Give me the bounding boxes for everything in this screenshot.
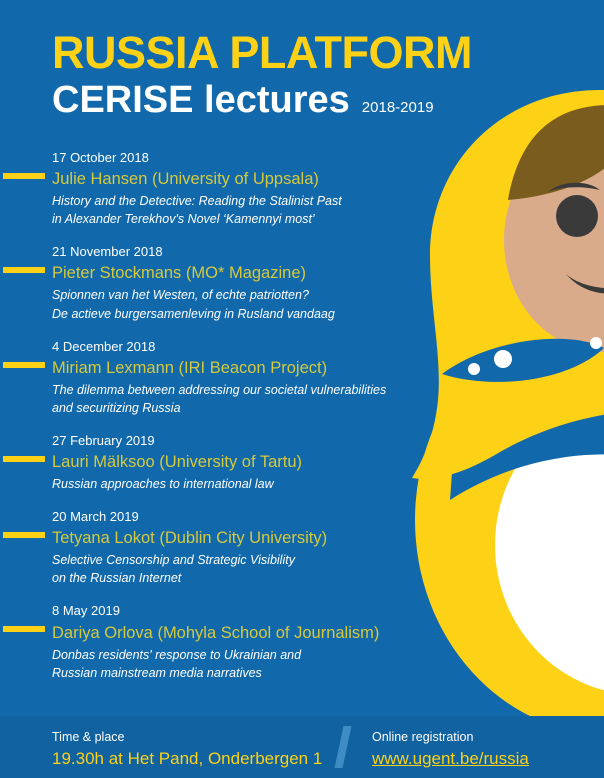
doll-scarf-dot bbox=[494, 350, 512, 368]
list-item: 20 March 2019 Tetyana Lokot (Dublin City… bbox=[0, 507, 420, 587]
list-item: 8 May 2019 Dariya Orlova (Mohyla School … bbox=[0, 601, 420, 681]
doll-eye bbox=[556, 195, 598, 237]
subtitle-row: CERISE lectures 2018-2019 bbox=[52, 81, 472, 119]
registration-label: Online registration bbox=[372, 728, 529, 747]
lecture-date: 17 October 2018 bbox=[52, 148, 420, 168]
lecture-date: 20 March 2019 bbox=[52, 507, 420, 527]
lecture-date: 4 December 2018 bbox=[52, 337, 420, 357]
doll-face bbox=[504, 128, 604, 352]
doll-scarf-drape bbox=[450, 405, 604, 500]
slash-divider bbox=[335, 726, 352, 768]
lecture-description-line: Selective Censorship and Strategic Visib… bbox=[52, 551, 420, 569]
doll-apron bbox=[495, 395, 604, 695]
lecture-description-line: History and the Detective: Reading the S… bbox=[52, 192, 420, 210]
poster-footer: Time & place 19.30h at Het Pand, Onderbe… bbox=[0, 716, 604, 778]
lecture-description-line: Spionnen van het Westen, of echte patrio… bbox=[52, 286, 420, 304]
list-item: 17 October 2018 Julie Hansen (University… bbox=[0, 148, 420, 228]
lecture-description-line: on the Russian Internet bbox=[52, 569, 420, 587]
lecture-description-line: De actieve burgersamenleving in Rusland … bbox=[52, 305, 420, 323]
lecture-description-line: in Alexander Terekhov's Novel ‘Kamennyi … bbox=[52, 210, 420, 228]
lecture-description-line: Donbas residents' response to Ukrainian … bbox=[52, 646, 420, 664]
lecture-date: 21 November 2018 bbox=[52, 242, 420, 262]
academic-year-label: 2018-2019 bbox=[362, 99, 434, 116]
lecture-accent-bar bbox=[3, 626, 45, 632]
doll-headscarf bbox=[412, 90, 604, 479]
poster-header: RUSSIA PLATFORM CERISE lectures 2018-201… bbox=[52, 30, 472, 119]
poster: RUSSIA PLATFORM CERISE lectures 2018-201… bbox=[0, 0, 604, 778]
page-title: RUSSIA PLATFORM bbox=[52, 30, 472, 75]
doll-smile bbox=[566, 274, 604, 294]
lecture-speaker: Dariya Orlova (Mohyla School of Journali… bbox=[52, 622, 420, 646]
list-item: 21 November 2018 Pieter Stockmans (MO* M… bbox=[0, 242, 420, 322]
registration-block: Online registration www.ugent.be/russia bbox=[372, 728, 529, 771]
lecture-description-line: Russian approaches to international law bbox=[52, 475, 420, 493]
page-subtitle: CERISE lectures bbox=[52, 81, 350, 119]
lecture-date: 8 May 2019 bbox=[52, 601, 420, 621]
lecture-speaker: Lauri Mälksoo (University of Tartu) bbox=[52, 451, 420, 475]
registration-url-link[interactable]: www.ugent.be/russia bbox=[372, 747, 529, 771]
lecture-accent-bar bbox=[3, 267, 45, 273]
lecture-accent-bar bbox=[3, 456, 45, 462]
lecture-description-line: Russian mainstream media narratives bbox=[52, 664, 420, 682]
lecture-accent-bar bbox=[3, 532, 45, 538]
lecture-speaker: Miriam Lexmann (IRI Beacon Project) bbox=[52, 357, 420, 381]
doll-scarf-leaf bbox=[442, 339, 604, 382]
time-place-label: Time & place bbox=[52, 728, 322, 747]
lecture-speaker: Julie Hansen (University of Uppsala) bbox=[52, 168, 420, 192]
list-item: 4 December 2018 Miriam Lexmann (IRI Beac… bbox=[0, 337, 420, 417]
doll-hair bbox=[508, 105, 604, 200]
lecture-date: 27 February 2019 bbox=[52, 431, 420, 451]
doll-scarf-dot bbox=[468, 363, 480, 375]
doll-eyebrow bbox=[548, 183, 600, 192]
lecture-description-line: The dilemma between addressing our socie… bbox=[52, 381, 420, 399]
doll-body-shape bbox=[415, 305, 604, 735]
lecture-description-line: and securitizing Russia bbox=[52, 399, 420, 417]
list-item: 27 February 2019 Lauri Mälksoo (Universi… bbox=[0, 431, 420, 493]
time-place-value: 19.30h at Het Pand, Onderbergen 1 bbox=[52, 747, 322, 771]
lecture-list: 17 October 2018 Julie Hansen (University… bbox=[0, 148, 420, 696]
lecture-speaker: Pieter Stockmans (MO* Magazine) bbox=[52, 262, 420, 286]
time-place-block: Time & place 19.30h at Het Pand, Onderbe… bbox=[52, 728, 322, 771]
lecture-accent-bar bbox=[3, 173, 45, 179]
doll-scarf-dot bbox=[590, 337, 602, 349]
lecture-accent-bar bbox=[3, 362, 45, 368]
lecture-speaker: Tetyana Lokot (Dublin City University) bbox=[52, 527, 420, 551]
